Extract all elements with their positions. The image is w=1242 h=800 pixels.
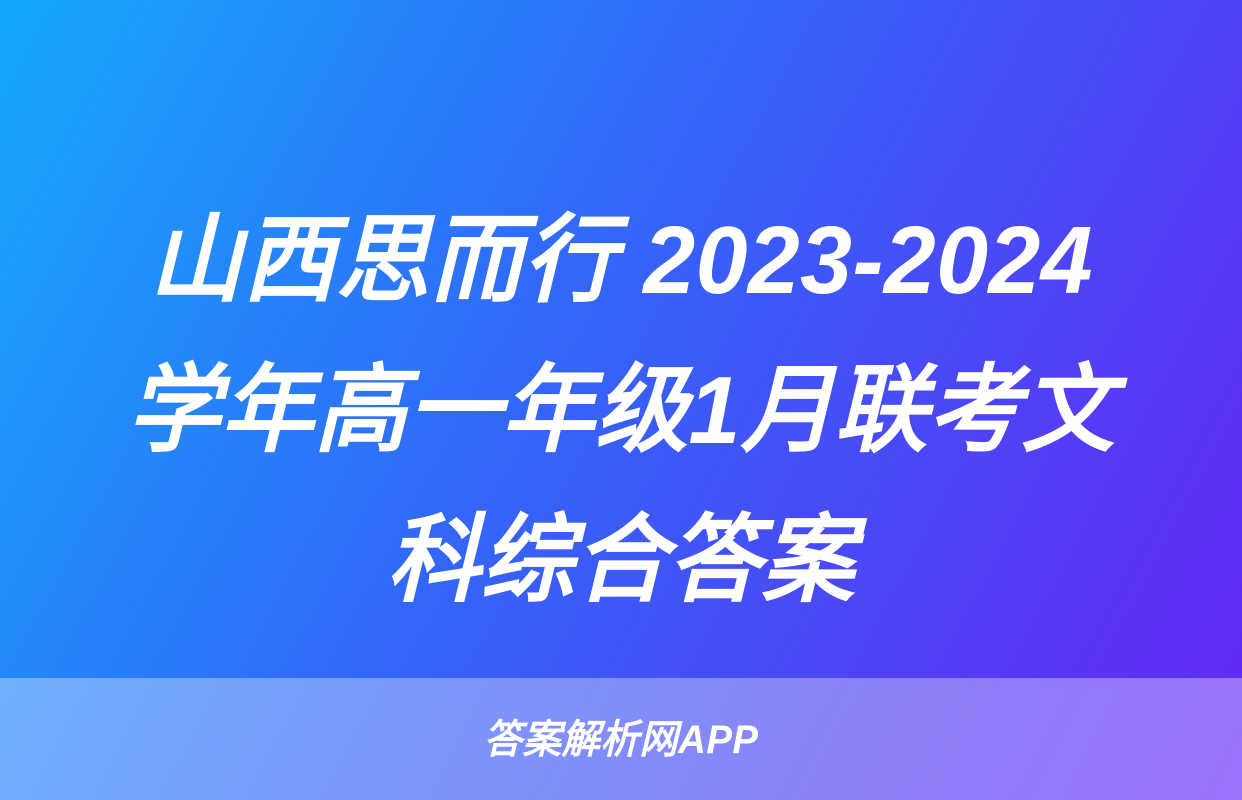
title-line-2: 学年高一年级1月联考文 [42,336,1200,486]
watermark-label: 答案解析网APP [484,718,759,762]
page-title: 山西思而行 2023-2024 学年高一年级1月联考文 科综合答案 [0,186,1242,636]
title-line-3: 科综合答案 [42,486,1200,636]
title-line-1: 山西思而行 2023-2024 [42,186,1200,336]
title-card: 山西思而行 2023-2024 学年高一年级1月联考文 科综合答案 答案解析网A… [0,0,1242,800]
watermark-band: 答案解析网APP [0,678,1242,800]
